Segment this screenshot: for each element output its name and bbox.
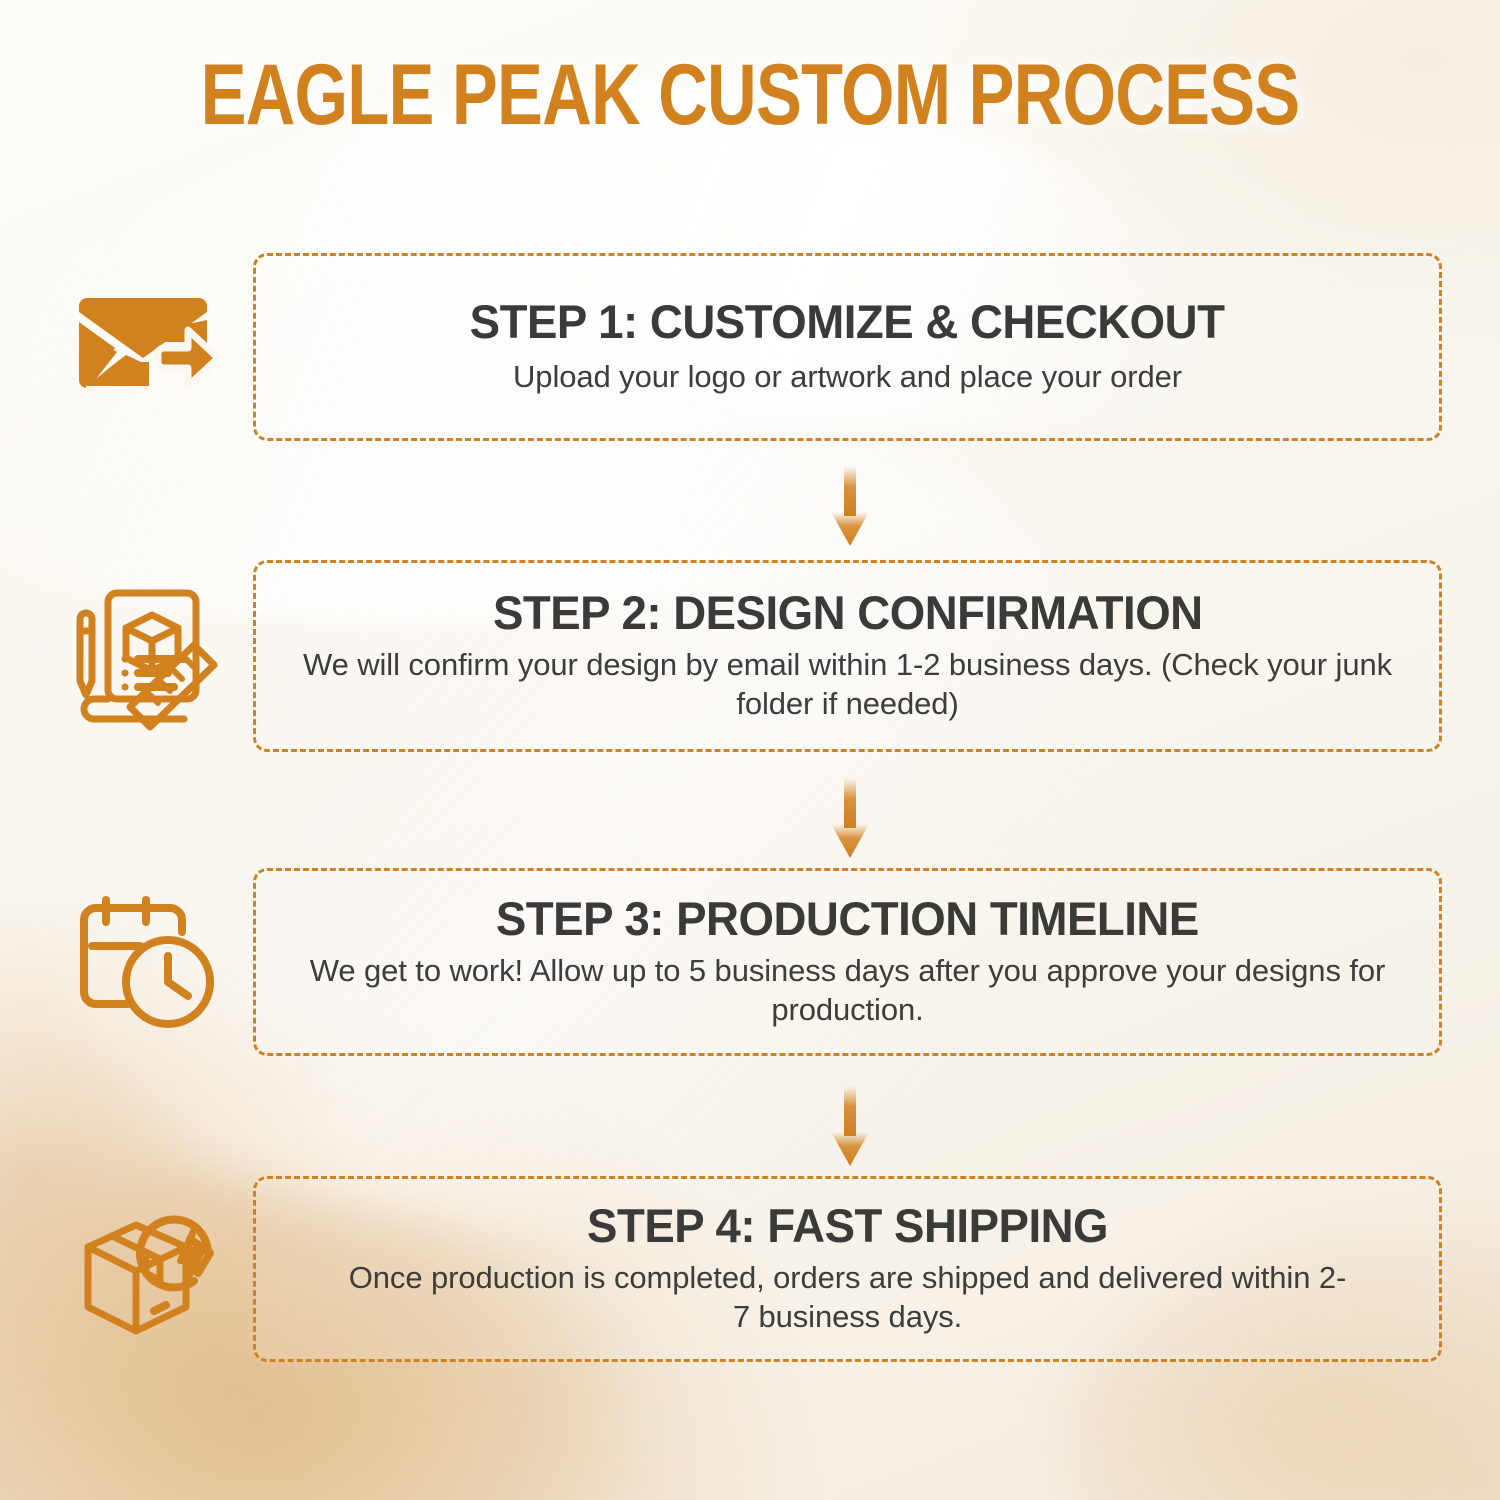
step-2-description: We will confirm your design by email wit… (303, 645, 1393, 723)
page-title: EAGLE PEAK CUSTOM PROCESS (150, 52, 1350, 138)
envelope-send-icon (56, 253, 232, 441)
step-3-description: We get to work! Allow up to 5 business d… (303, 951, 1393, 1029)
step-4-description: Once production is completed, orders are… (343, 1258, 1353, 1336)
step-3-heading: STEP 3: PRODUCTION TIMELINE (496, 895, 1199, 943)
step-row-3: STEP 3: PRODUCTION TIMELINE We get to wo… (0, 868, 1500, 1056)
calendar-clock-icon (56, 868, 232, 1056)
step-card-4[interactable]: STEP 4: FAST SHIPPING Once production is… (253, 1176, 1442, 1362)
step-card-2[interactable]: STEP 2: DESIGN CONFIRMATION We will conf… (253, 560, 1442, 752)
step-card-1[interactable]: STEP 1: CUSTOMIZE & CHECKOUT Upload your… (253, 253, 1442, 441)
arrow-step2-to-step3 (829, 778, 871, 860)
step-2-heading: STEP 2: DESIGN CONFIRMATION (493, 589, 1203, 637)
fast-shipping-box-icon (56, 1176, 232, 1362)
step-4-heading: STEP 4: FAST SHIPPING (587, 1202, 1108, 1250)
step-1-description: Upload your logo or artwork and place yo… (513, 357, 1182, 396)
arrow-step3-to-step4 (829, 1086, 871, 1168)
infographic-canvas: EAGLE PEAK CUSTOM PROCESS STEP 1: CUSTOM… (0, 0, 1500, 1500)
step-row-4: STEP 4: FAST SHIPPING Once production is… (0, 1176, 1500, 1362)
arrow-step1-to-step2 (829, 466, 871, 548)
design-document-icon (56, 560, 232, 752)
step-card-3[interactable]: STEP 3: PRODUCTION TIMELINE We get to wo… (253, 868, 1442, 1056)
step-row-1: STEP 1: CUSTOMIZE & CHECKOUT Upload your… (0, 253, 1500, 441)
step-row-2: STEP 2: DESIGN CONFIRMATION We will conf… (0, 560, 1500, 752)
step-1-heading: STEP 1: CUSTOMIZE & CHECKOUT (470, 298, 1225, 346)
